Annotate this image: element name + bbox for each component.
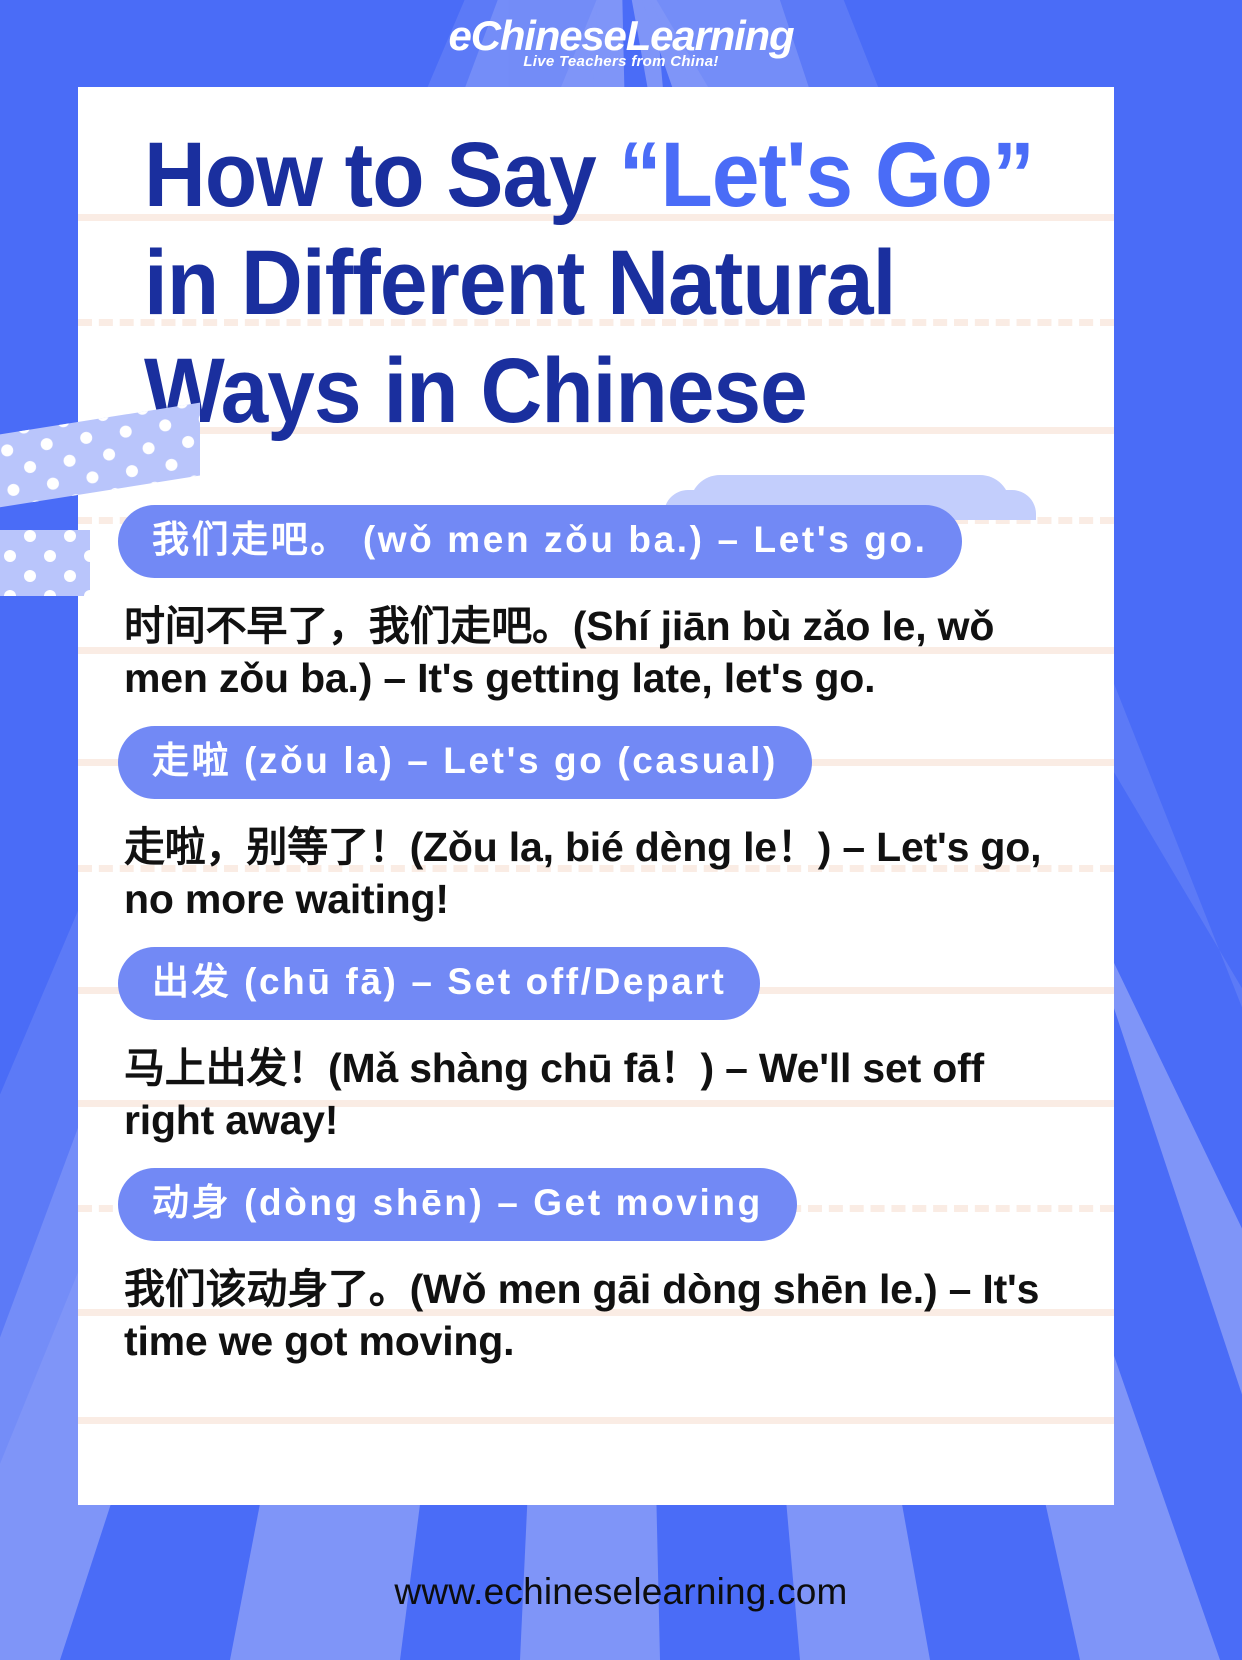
brand-logo: eChineseLearning Live Teachers from Chin…: [0, 14, 1242, 84]
pill-row: 动身 (dòng shēn) – Get moving: [78, 1168, 1114, 1241]
rule-line: [78, 1417, 1114, 1424]
phrase-section: 走啦 (zǒu la) – Let's go (casual) 走啦，别等了！(…: [78, 726, 1114, 925]
pill-row: 我们走吧。 (wǒ men zǒu ba.) – Let's go.: [78, 505, 1114, 578]
phrase-pill-2[interactable]: 走啦 (zǒu la) – Let's go (casual): [118, 726, 812, 799]
phrase-example-1: 时间不早了，我们走吧。(Shí jiān bù zǎo le, wǒ men z…: [124, 600, 1076, 704]
phrase-section: 我们走吧。 (wǒ men zǒu ba.) – Let's go. 时间不早了…: [78, 505, 1114, 704]
phrase-example-2: 走啦，别等了！(Zǒu la, bié dèng le！) – Let's go…: [124, 821, 1076, 925]
logo-wordmark: eChineseLearning: [0, 14, 1242, 58]
phrase-section: 动身 (dòng shēn) – Get moving 我们该动身了。(Wǒ m…: [78, 1168, 1114, 1367]
title-line-3: Ways in Chinese: [144, 340, 807, 442]
pill-row: 走啦 (zǒu la) – Let's go (casual): [78, 726, 1114, 799]
phrase-example-4: 我们该动身了。(Wǒ men gāi dòng shēn le.) – It's…: [124, 1263, 1094, 1367]
phrase-list: 我们走吧。 (wǒ men zǒu ba.) – Let's go. 时间不早了…: [78, 505, 1114, 1367]
footer-url[interactable]: www.echineselearning.com: [0, 1570, 1242, 1614]
title-line-1-plain: How to Say: [144, 124, 619, 226]
phrase-example-3: 马上出发！(Mǎ shàng chū fā！) – We'll set off …: [124, 1042, 1076, 1146]
page-title: How to Say “Let's Go” in Different Natur…: [144, 121, 1037, 445]
phrase-pill-4[interactable]: 动身 (dòng shēn) – Get moving: [118, 1168, 797, 1241]
phrase-pill-3[interactable]: 出发 (chū fā) – Set off/Depart: [118, 947, 760, 1020]
phrase-pill-1[interactable]: 我们走吧。 (wǒ men zǒu ba.) – Let's go.: [118, 505, 962, 578]
phrase-section: 出发 (chū fā) – Set off/Depart 马上出发！(Mǎ sh…: [78, 947, 1114, 1146]
pill-row: 出发 (chū fā) – Set off/Depart: [78, 947, 1114, 1020]
title-line-2: in Different Natural: [144, 232, 896, 334]
logo-tagline: Live Teachers from China!: [0, 54, 1242, 70]
polka-dot-tape-decoration: [0, 386, 200, 596]
title-line-1-highlight: “Let's Go”: [619, 124, 1034, 226]
poster-card: How to Say “Let's Go” in Different Natur…: [78, 87, 1114, 1505]
